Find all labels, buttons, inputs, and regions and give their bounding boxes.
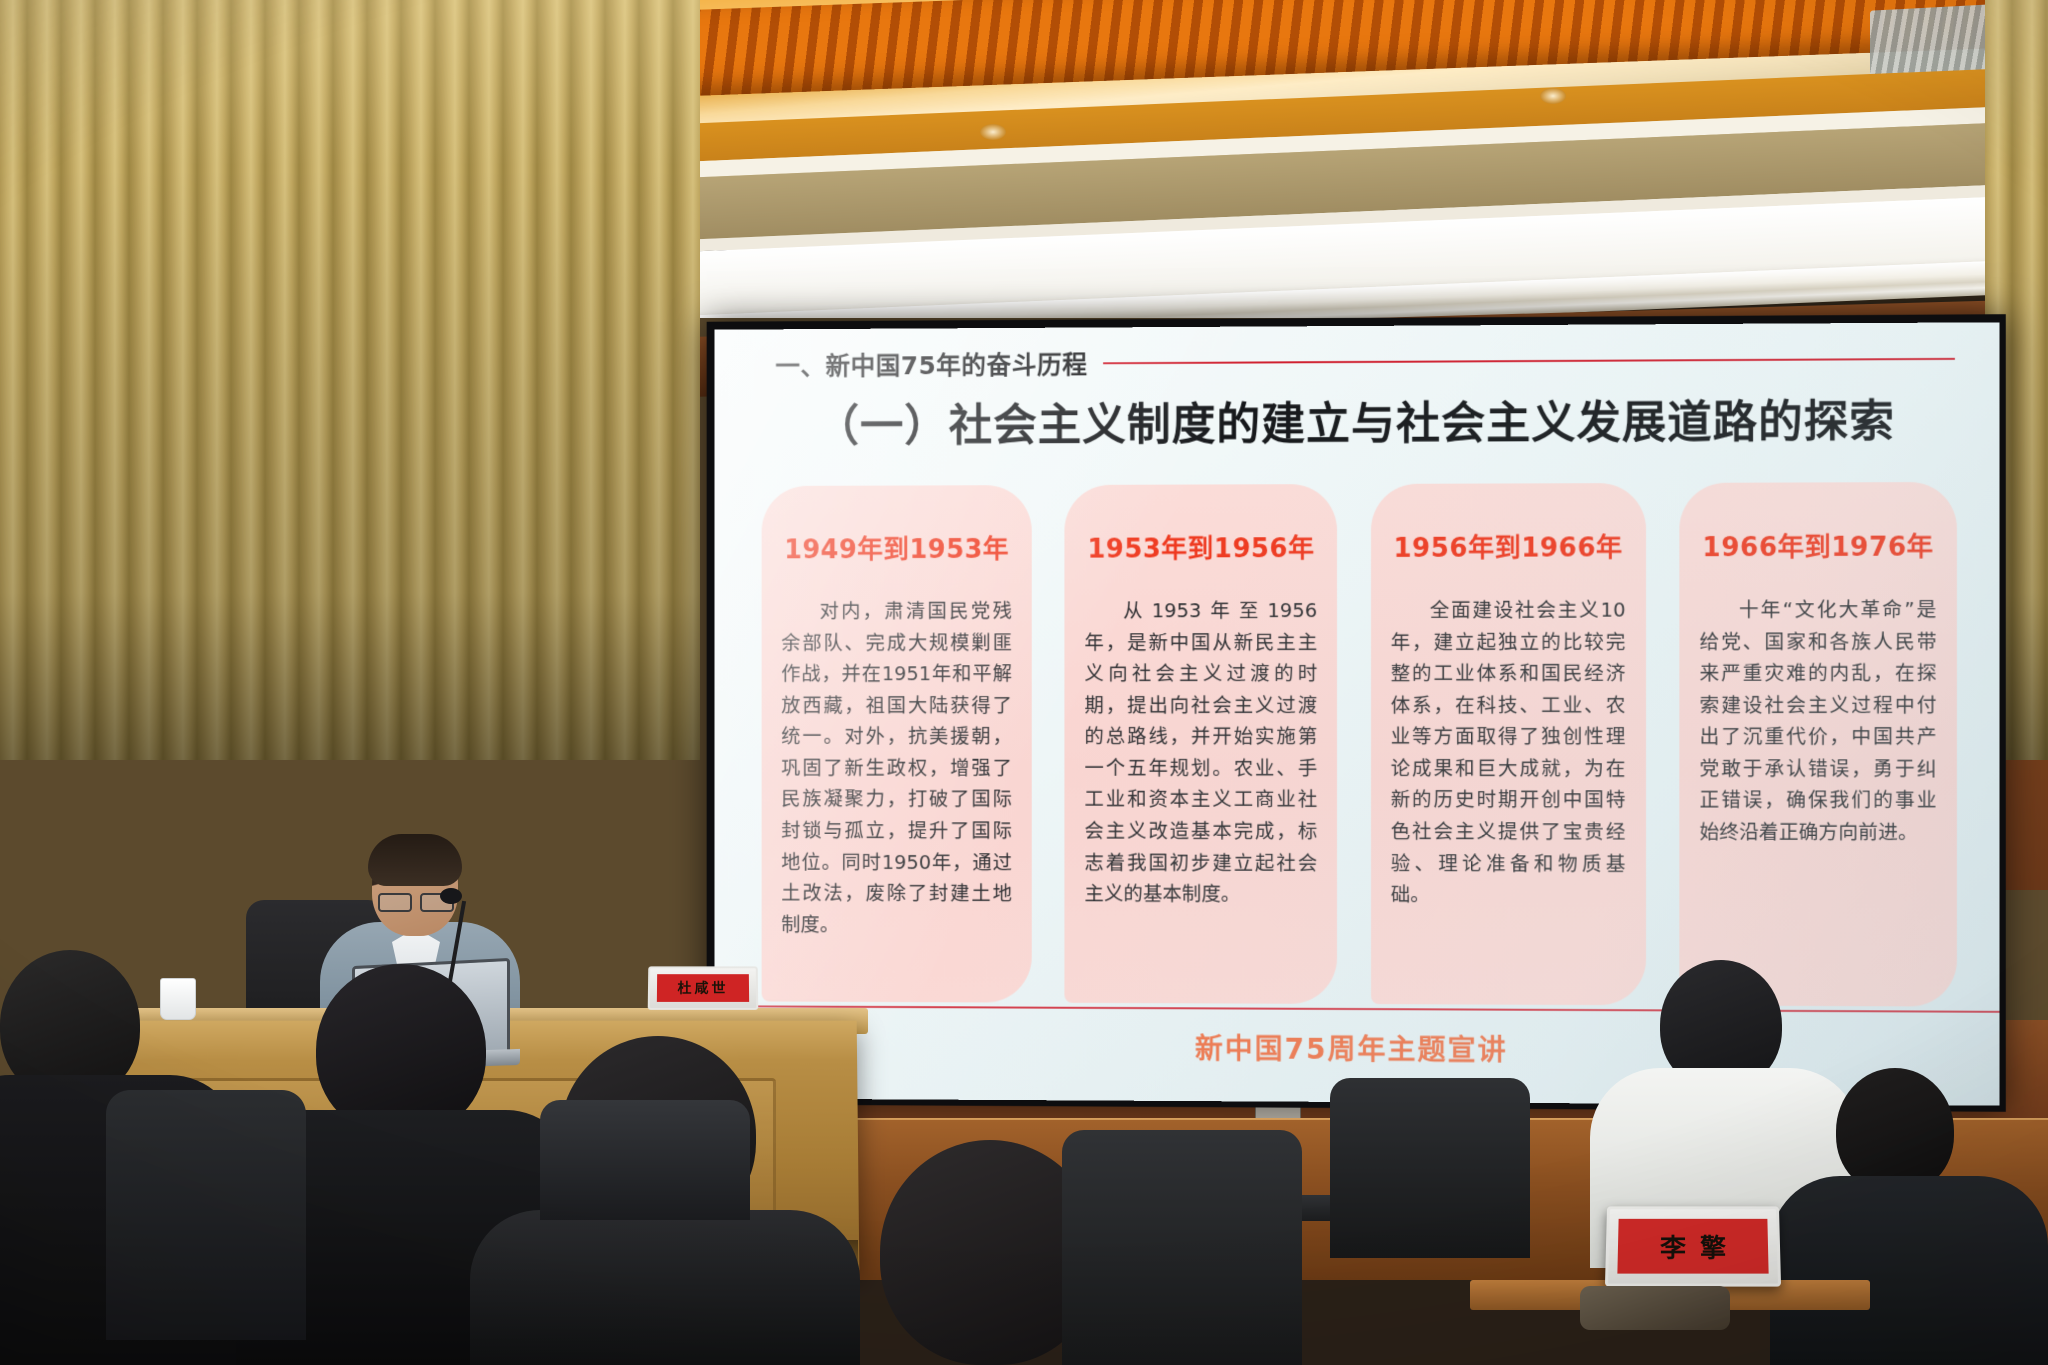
microphone-icon bbox=[440, 888, 462, 904]
audience-shoulders bbox=[1770, 1176, 2048, 1365]
slide-card-body: 十年“文化大革命”是给党、国家和各族人民带来严重灾难的内乱，在探索建设社会主义过… bbox=[1700, 594, 1937, 849]
slide-card-body: 对内，肃清国民党残余部队、完成大规模剿匪作战，并在1951年和平解放西藏，祖国大… bbox=[781, 596, 1012, 942]
slide-section-header: 一、新中国75年的奋斗历程 bbox=[775, 341, 1955, 383]
slide-kicker-rule bbox=[1103, 358, 1955, 364]
slide-footer-text: 新中国75周年主题宣讲 bbox=[715, 1025, 2000, 1071]
audience-chair bbox=[540, 1100, 750, 1220]
slide-card-title: 1949年到1953年 bbox=[781, 529, 1012, 566]
attendee-nameplate: 李擎 bbox=[1605, 1206, 1781, 1286]
slide-card: 1953年到1956年 从1953年至1956年，是新中国从新民主主义向社会主义… bbox=[1065, 484, 1338, 1004]
slide-card-body: 全面建设社会主义10年，建立起独立的比较完整的工业体系和国民经济体系，在科技、工… bbox=[1391, 595, 1626, 912]
lecture-hall-photo: 一、新中国75年的奋斗历程 （一）社会主义制度的建立与社会主义发展道路的探索 1… bbox=[0, 0, 2048, 1365]
slide-kicker-text: 一、新中国75年的奋斗历程 bbox=[775, 345, 1087, 382]
attendee-nameplate-text: 李擎 bbox=[1617, 1219, 1768, 1274]
water-cup bbox=[160, 978, 196, 1020]
projection-screen: 一、新中国75年的奋斗历程 （一）社会主义制度的建立与社会主义发展道路的探索 1… bbox=[715, 322, 2000, 1105]
slide-card: 1966年到1976年 十年“文化大革命”是给党、国家和各族人民带来严重灾难的内… bbox=[1679, 482, 1957, 1007]
curtain-shading bbox=[0, 0, 700, 760]
speaker-hair bbox=[368, 834, 462, 886]
audience-chair bbox=[1062, 1130, 1302, 1365]
slide-card: 1956年到1966年 全面建设社会主义10年，建立起独立的比较完整的工业体系和… bbox=[1371, 483, 1646, 1005]
slide-card: 1949年到1953年 对内，肃清国民党残余部队、完成大规模剿匪作战，并在195… bbox=[762, 485, 1032, 1003]
presentation-slide: 一、新中国75年的奋斗历程 （一）社会主义制度的建立与社会主义发展道路的探索 1… bbox=[715, 322, 2000, 1105]
slide-card-title: 1966年到1976年 bbox=[1700, 526, 1937, 564]
eyeglasses-case bbox=[1580, 1286, 1730, 1330]
ceiling-downlight bbox=[1540, 88, 1566, 104]
ceiling-downlight bbox=[980, 124, 1006, 140]
slide-card-title: 1956年到1966年 bbox=[1391, 527, 1626, 565]
slide-title: （一）社会主义制度的建立与社会主义发展道路的探索 bbox=[715, 385, 2000, 455]
slide-card-body: 从1953年至1956年，是新中国从新民主主义向社会主义过渡的时期，提出向社会主… bbox=[1085, 595, 1318, 911]
audience-shoulders bbox=[470, 1210, 860, 1365]
slide-card-row: 1949年到1953年 对内，肃清国民党残余部队、完成大规模剿匪作战，并在195… bbox=[762, 482, 1957, 1007]
audience-chair bbox=[106, 1090, 306, 1340]
stage-curtain-left bbox=[0, 0, 700, 760]
slide-footer-rule bbox=[715, 1005, 2000, 1013]
speaker-nameplate-text: 杜咸世 bbox=[657, 974, 749, 1002]
slide-card-title: 1953年到1956年 bbox=[1085, 528, 1318, 565]
audience-chair bbox=[1330, 1078, 1530, 1258]
speaker-nameplate: 杜咸世 bbox=[648, 966, 759, 1010]
